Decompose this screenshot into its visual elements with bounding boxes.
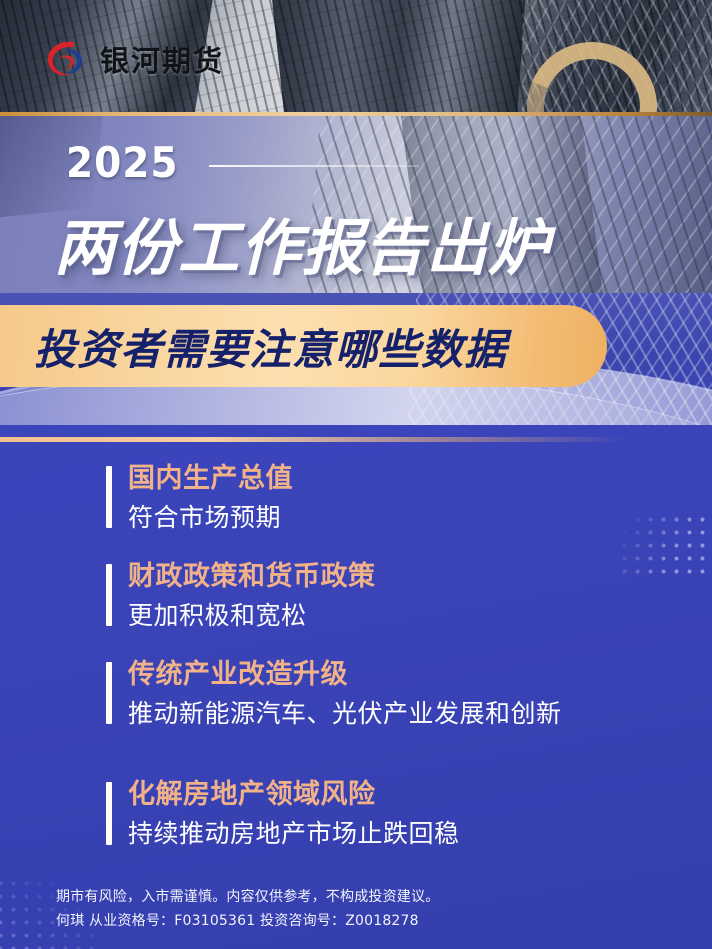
galaxy-swirl-icon [44,38,88,80]
highlight-list: 国内生产总值 符合市场预期 财政政策和货币政策 更加积极和宽松 传统产业改造升级… [106,461,692,851]
item-detail: 持续推动房地产市场止跌回稳 [128,817,692,851]
list-item: 传统产业改造升级 推动新能源汽车、光伏产业发展和创新 [106,657,692,730]
item-accent-bar [106,564,112,626]
footer-credentials: 何琪 从业资格号：F03105361 投资咨询号：Z0018278 [56,909,439,933]
list-item: 化解房地产领域风险 持续推动房地产市场止跌回稳 [106,777,692,850]
item-heading: 化解房地产领域风险 [128,777,692,813]
subtitle-banner-text: 投资者需要注意哪些数据 [34,316,507,377]
item-detail: 更加积极和宽松 [128,599,692,633]
header-band: 银河期货 [0,0,712,116]
list-item: 财政政策和货币政策 更加积极和宽松 [106,559,692,632]
body-zone: 国内生产总值 符合市场预期 财政政策和货币政策 更加积极和宽松 传统产业改造升级… [0,425,712,949]
list-item: 国内生产总值 符合市场预期 [106,461,692,534]
subtitle-banner: 投资者需要注意哪些数据 [0,305,607,387]
item-accent-bar [106,466,112,528]
main-headline: 两份工作报告出炉 [54,198,550,287]
item-detail: 符合市场预期 [128,501,692,535]
item-heading: 财政政策和货币政策 [128,559,692,595]
item-heading: 国内生产总值 [128,461,692,497]
item-detail: 推动新能源汽车、光伏产业发展和创新 [128,697,692,731]
title-band: 2025 两份工作报告出炉 [0,116,712,293]
brand-logo: 银河期货 [44,38,224,80]
item-accent-bar [106,662,112,724]
body-top-divider [0,437,712,442]
subtitle-zone: 投资者需要注意哪些数据 [0,293,712,441]
item-heading: 传统产业改造升级 [128,657,692,693]
title-year-rule [209,165,419,167]
list-gap-spacer [106,755,692,777]
footer-disclaimer: 期市有风险，入市需谨慎。内容仅供参考，不构成投资建议。 [56,885,439,909]
brand-name: 银河期货 [100,38,224,80]
title-year: 2025 [66,138,178,187]
footer: 期市有风险，入市需谨慎。内容仅供参考，不构成投资建议。 何琪 从业资格号：F03… [56,885,439,933]
poster-root: 银河期货 2025 两份工作报告出炉 投资者需要注意哪些数据 国内生产总值 [0,0,712,949]
item-accent-bar [106,782,112,844]
title-year-row: 2025 [66,138,419,187]
